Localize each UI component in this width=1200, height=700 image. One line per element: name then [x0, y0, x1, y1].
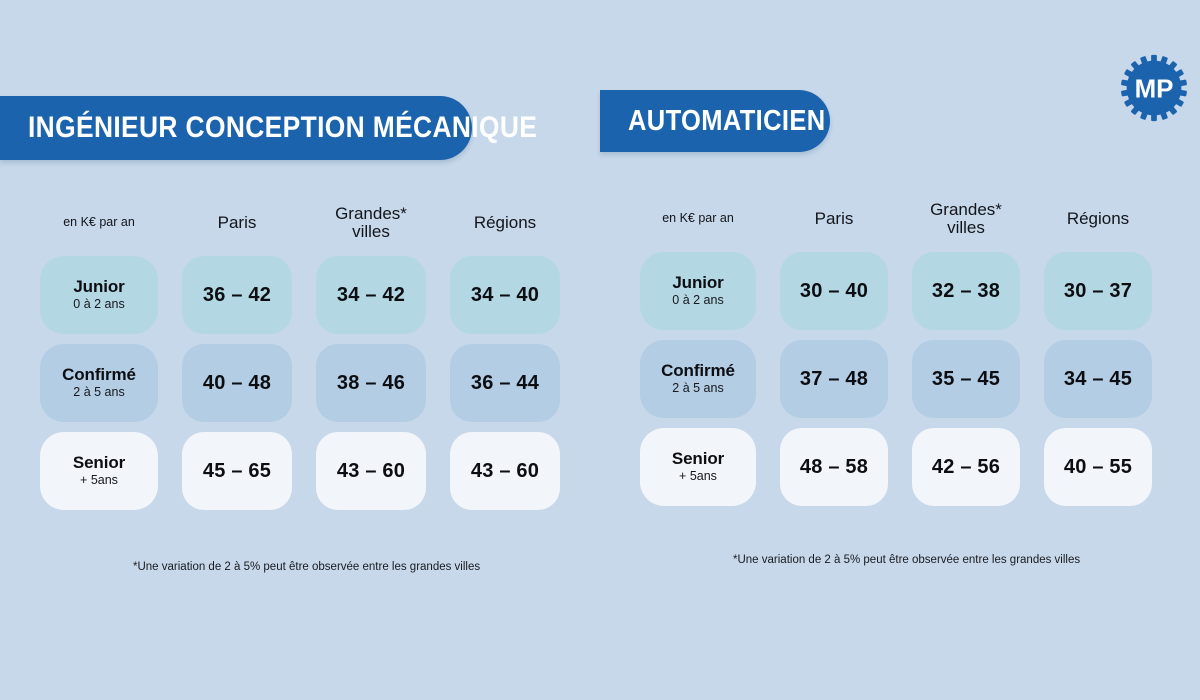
level-cell-senior: Senior + 5ans: [640, 428, 756, 506]
value-cell-paris: 36 – 42: [182, 256, 292, 334]
value-cell-regions: 30 – 37: [1044, 252, 1152, 330]
value-cell-grandes-villes: 38 – 46: [316, 344, 426, 422]
footnote-right: *Une variation de 2 à 5% peut être obser…: [733, 554, 1080, 566]
header-regions: Régions: [450, 214, 560, 232]
value-cell-paris: 37 – 48: [780, 340, 888, 418]
header-grandes-villes: Grandes* villes: [316, 205, 426, 242]
salary-range: 34 – 40: [471, 284, 539, 307]
header-paris: Paris: [780, 210, 888, 228]
infographic-canvas: MP INGÉNIEUR CONCEPTION MÉCANIQUE AUTOMA…: [0, 0, 1200, 700]
salary-range: 30 – 40: [800, 280, 868, 303]
value-cell-regions: 34 – 40: [450, 256, 560, 334]
header-grandes-villes-line2: villes: [316, 223, 426, 241]
value-cell-regions: 36 – 44: [450, 344, 560, 422]
banner-right-title: AUTOMATICIEN: [628, 105, 826, 138]
salary-range: 30 – 37: [1064, 280, 1132, 303]
value-cell-regions: 43 – 60: [450, 432, 560, 510]
level-experience: 0 à 2 ans: [672, 294, 723, 308]
footnote-left: *Une variation de 2 à 5% peut être obser…: [133, 561, 480, 573]
level-experience: 2 à 5 ans: [672, 382, 723, 396]
value-cell-grandes-villes: 35 – 45: [912, 340, 1020, 418]
mp-gear-logo: MP: [1118, 52, 1190, 124]
value-cell-paris: 30 – 40: [780, 252, 888, 330]
header-grandes-villes: Grandes* villes: [912, 201, 1020, 238]
table-left-header-row: en K€ par an Paris Grandes* villes Régio…: [40, 200, 560, 246]
value-cell-regions: 34 – 45: [1044, 340, 1152, 418]
level-cell-confirme: Confirmé 2 à 5 ans: [640, 340, 756, 418]
table-row-junior: Junior 0 à 2 ans 30 – 40 32 – 38 30 – 37: [640, 252, 1158, 330]
table-row-senior: Senior + 5ans 48 – 58 42 – 56 40 – 55: [640, 428, 1158, 506]
level-cell-senior: Senior + 5ans: [40, 432, 158, 510]
level-name: Junior: [672, 274, 723, 293]
level-cell-junior: Junior 0 à 2 ans: [640, 252, 756, 330]
salary-range: 48 – 58: [800, 456, 868, 479]
value-cell-paris: 45 – 65: [182, 432, 292, 510]
header-grandes-villes-line1: Grandes*: [912, 201, 1020, 219]
level-name: Confirmé: [62, 366, 136, 385]
logo-text: MP: [1135, 75, 1174, 103]
salary-table-automaticien: en K€ par an Paris Grandes* villes Régio…: [640, 196, 1158, 506]
salary-range: 36 – 44: [471, 372, 539, 395]
salary-range: 35 – 45: [932, 368, 1000, 391]
salary-range: 32 – 38: [932, 280, 1000, 303]
salary-range: 40 – 48: [203, 372, 271, 395]
level-name: Senior: [73, 454, 125, 473]
salary-range: 43 – 60: [471, 460, 539, 483]
level-experience: + 5ans: [80, 474, 118, 488]
salary-range: 43 – 60: [337, 460, 405, 483]
banner-ingenieur-conception-mecanique: INGÉNIEUR CONCEPTION MÉCANIQUE: [0, 96, 472, 160]
header-unit: en K€ par an: [640, 212, 756, 226]
salary-range: 34 – 45: [1064, 368, 1132, 391]
salary-table-ingenieur-conception-mecanique: en K€ par an Paris Grandes* villes Régio…: [40, 200, 560, 510]
level-cell-confirme: Confirmé 2 à 5 ans: [40, 344, 158, 422]
table-right-header-row: en K€ par an Paris Grandes* villes Régio…: [640, 196, 1158, 242]
salary-range: 38 – 46: [337, 372, 405, 395]
header-regions: Régions: [1044, 210, 1152, 228]
header-unit: en K€ par an: [40, 216, 158, 230]
header-paris: Paris: [182, 214, 292, 232]
salary-range: 45 – 65: [203, 460, 271, 483]
value-cell-grandes-villes: 32 – 38: [912, 252, 1020, 330]
level-cell-junior: Junior 0 à 2 ans: [40, 256, 158, 334]
salary-range: 42 – 56: [932, 456, 1000, 479]
header-grandes-villes-line2: villes: [912, 219, 1020, 237]
banner-automaticien: AUTOMATICIEN: [600, 90, 830, 152]
level-experience: + 5ans: [679, 470, 717, 484]
value-cell-paris: 40 – 48: [182, 344, 292, 422]
value-cell-paris: 48 – 58: [780, 428, 888, 506]
table-row-senior: Senior + 5ans 45 – 65 43 – 60 43 – 60: [40, 432, 560, 510]
table-row-confirme: Confirmé 2 à 5 ans 37 – 48 35 – 45 34 – …: [640, 340, 1158, 418]
level-name: Junior: [73, 278, 124, 297]
level-name: Confirmé: [661, 362, 735, 381]
value-cell-grandes-villes: 42 – 56: [912, 428, 1020, 506]
table-row-junior: Junior 0 à 2 ans 36 – 42 34 – 42 34 – 40: [40, 256, 560, 334]
table-row-confirme: Confirmé 2 à 5 ans 40 – 48 38 – 46 36 – …: [40, 344, 560, 422]
level-experience: 0 à 2 ans: [73, 298, 124, 312]
salary-range: 37 – 48: [800, 368, 868, 391]
salary-range: 34 – 42: [337, 284, 405, 307]
value-cell-grandes-villes: 34 – 42: [316, 256, 426, 334]
value-cell-grandes-villes: 43 – 60: [316, 432, 426, 510]
banner-left-title: INGÉNIEUR CONCEPTION MÉCANIQUE: [28, 111, 537, 145]
salary-range: 36 – 42: [203, 284, 271, 307]
level-name: Senior: [672, 450, 724, 469]
header-grandes-villes-line1: Grandes*: [316, 205, 426, 223]
level-experience: 2 à 5 ans: [73, 386, 124, 400]
salary-range: 40 – 55: [1064, 456, 1132, 479]
value-cell-regions: 40 – 55: [1044, 428, 1152, 506]
